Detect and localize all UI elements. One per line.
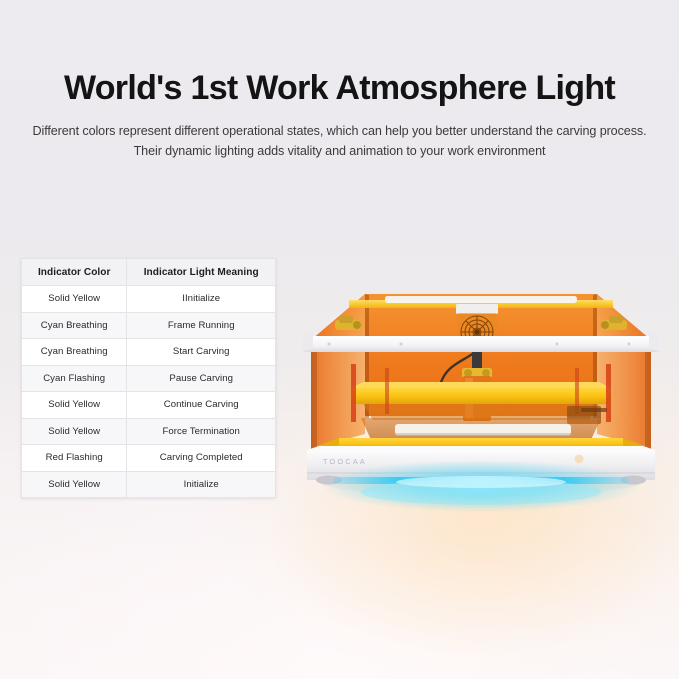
edge-shadow-left: [311, 338, 317, 449]
table-row: Solid Yellow Initialize: [22, 471, 276, 498]
cell-indicator-meaning: IInitialize: [127, 286, 276, 313]
laser-lens-left: [464, 369, 472, 377]
table-row: Red Flashing Carving Completed: [22, 445, 276, 472]
laser-lens-right: [482, 369, 490, 377]
cell-indicator-meaning: Initialize: [127, 471, 276, 498]
table-row: Solid Yellow IInitialize: [22, 286, 276, 313]
workpiece-shadow: [395, 433, 571, 436]
support-post-right: [606, 364, 611, 422]
cell-indicator-meaning: Start Carving: [127, 339, 276, 366]
front-upper-white-rail: [303, 336, 659, 352]
cell-indicator-color: Solid Yellow: [22, 392, 127, 419]
page-canvas: World's 1st Work Atmosphere Light Differ…: [0, 0, 679, 679]
cell-indicator-color: Cyan Breathing: [22, 339, 127, 366]
header-section: World's 1st Work Atmosphere Light Differ…: [0, 0, 679, 162]
column-header-indicator-light-meaning: Indicator Light Meaning: [127, 259, 276, 286]
table-header: Indicator Color Indicator Light Meaning: [22, 259, 276, 286]
power-indicator-dot: [575, 455, 584, 464]
cell-indicator-meaning: Pause Carving: [127, 365, 276, 392]
cell-indicator-color: Red Flashing: [22, 445, 127, 472]
indicator-table-container: Indicator Color Indicator Light Meaning …: [21, 258, 276, 498]
support-post-left-inner: [385, 368, 389, 414]
enclosure-right-panel: [597, 294, 651, 449]
table-row: Cyan Breathing Start Carving: [22, 339, 276, 366]
cell-indicator-color: Solid Yellow: [22, 471, 127, 498]
rear-top-white-strip: [385, 296, 577, 303]
interior-shelf: [363, 404, 599, 420]
brand-logo-text: TOOCAA: [323, 457, 367, 466]
table-row: Solid Yellow Continue Carving: [22, 392, 276, 419]
x-axis-gantry-beam-top: [351, 382, 611, 388]
cell-indicator-color: Cyan Flashing: [22, 365, 127, 392]
support-post-left: [351, 364, 356, 422]
table-row: Solid Yellow Force Termination: [22, 418, 276, 445]
laser-head-neck: [472, 350, 482, 370]
page-subtitle: Different colors represent different ope…: [32, 121, 648, 162]
cell-indicator-meaning: Carving Completed: [127, 445, 276, 472]
x-axis-gantry-beam: [351, 388, 611, 404]
indicator-table: Indicator Color Indicator Light Meaning …: [21, 258, 276, 498]
table-body: Solid Yellow IInitialize Cyan Breathing …: [22, 286, 276, 498]
table-header-row: Indicator Color Indicator Light Meaning: [22, 259, 276, 286]
page-title: World's 1st Work Atmosphere Light: [0, 70, 679, 107]
cell-indicator-color: Solid Yellow: [22, 286, 127, 313]
cell-indicator-meaning: Continue Carving: [127, 392, 276, 419]
column-header-indicator-color: Indicator Color: [22, 259, 127, 286]
enclosure-left-panel: [311, 294, 365, 449]
machine-base-top-bevel: [307, 446, 655, 450]
edge-shadow-right: [645, 338, 651, 449]
fan-mount-plate: [456, 304, 498, 314]
right-axis-rail: [581, 408, 607, 412]
cell-indicator-color: Cyan Breathing: [22, 312, 127, 339]
table-row: Cyan Flashing Pause Carving: [22, 365, 276, 392]
cell-indicator-meaning: Force Termination: [127, 418, 276, 445]
cell-indicator-color: Solid Yellow: [22, 418, 127, 445]
table-row: Cyan Breathing Frame Running: [22, 312, 276, 339]
cell-indicator-meaning: Frame Running: [127, 312, 276, 339]
product-image-laser-engraver: TOOCAA: [289, 268, 673, 520]
atmosphere-light-core: [396, 476, 566, 488]
